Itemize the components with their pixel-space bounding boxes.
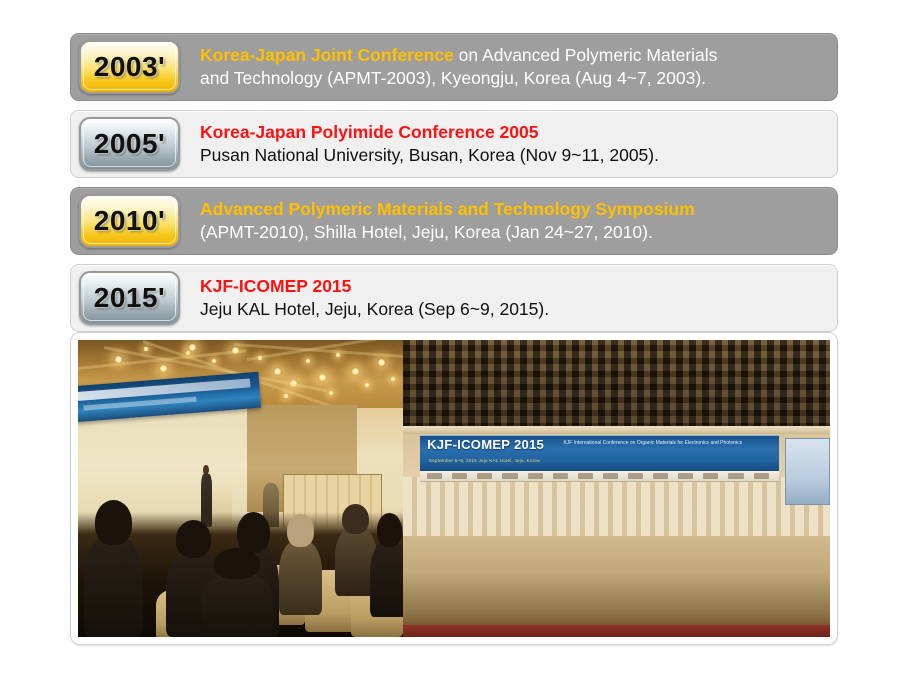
lecture-hall-photo [78, 340, 403, 637]
group-photo-kjf-icomep-2015: KJF-ICOMEP 2015 KJF International Confer… [403, 340, 830, 637]
year-badge-2015[interactable]: 2015' [79, 271, 180, 325]
timeline-row-detail: Pusan National University, Busan, Korea … [200, 144, 825, 167]
timeline-row-detail: (APMT-2010), Shilla Hotel, Jeju, Korea (… [200, 221, 825, 244]
timeline-row-headline: Korea-Japan Joint Conference on Advanced… [200, 44, 825, 67]
timeline-row-2015[interactable]: 2015' KJF-ICOMEP 2015 Jeju KAL Hotel, Je… [70, 264, 838, 332]
year-badge-label: 2005' [94, 130, 165, 158]
stage-curtain [403, 477, 830, 536]
banner-subtitle: KJF International Conference on Organic … [563, 440, 771, 447]
banner-date: September 6~9, 2015 Jeju KAL Hotel, Jeju… [429, 458, 540, 463]
timeline-row-text: Korea-Japan Joint Conference on Advanced… [180, 44, 837, 90]
audience-area [78, 512, 403, 637]
year-badge-label: 2015' [94, 284, 165, 312]
year-badge-label: 2003' [94, 53, 165, 81]
year-badge-2010[interactable]: 2010' [79, 194, 180, 248]
photo-panel: KJF-ICOMEP 2015 KJF International Confer… [70, 332, 838, 645]
projection-screen [785, 438, 830, 505]
hall-scene [78, 340, 403, 637]
seated-crowd [403, 340, 830, 429]
timeline-row-2010[interactable]: 2010' Advanced Polymeric Materials and T… [70, 187, 838, 255]
year-badge-2005[interactable]: 2005' [79, 117, 180, 171]
timeline-row-text: Korea-Japan Polyimide Conference 2005 Pu… [180, 121, 837, 167]
timeline-row-headline: KJF-ICOMEP 2015 [200, 275, 825, 298]
banner-title: KJF-ICOMEP 2015 [427, 438, 544, 451]
headline-highlight: Advanced Polymeric Materials and Technol… [200, 199, 695, 219]
timeline-row-detail: and Technology (APMT-2003), Kyeongju, Ko… [200, 67, 825, 90]
kjf-icomep-banner: KJF-ICOMEP 2015 KJF International Confer… [420, 435, 779, 473]
group-scene: KJF-ICOMEP 2015 KJF International Confer… [403, 340, 830, 637]
year-badge-2003[interactable]: 2003' [79, 40, 180, 94]
headline-highlight: KJF-ICOMEP 2015 [200, 276, 351, 296]
headline-highlight: Korea-Japan Joint Conference [200, 45, 454, 65]
timeline-row-text: Advanced Polymeric Materials and Technol… [180, 198, 837, 244]
headline-highlight: Korea-Japan Polyimide Conference 2005 [200, 122, 538, 142]
timeline-row-detail: Jeju KAL Hotel, Jeju, Korea (Sep 6~9, 20… [200, 298, 825, 321]
timeline-row-headline: Korea-Japan Polyimide Conference 2005 [200, 121, 825, 144]
crowd-divider [403, 426, 830, 433]
slide-canvas: 2003' Korea-Japan Joint Conference on Ad… [0, 0, 900, 675]
headline-rest: on Advanced Polymeric Materials [454, 45, 718, 65]
year-badge-label: 2010' [94, 207, 165, 235]
red-carpet [403, 625, 830, 637]
timeline-row-2005[interactable]: 2005' Korea-Japan Polyimide Conference 2… [70, 110, 838, 178]
conference-timeline-list: 2003' Korea-Japan Joint Conference on Ad… [70, 33, 838, 332]
timeline-row-headline: Advanced Polymeric Materials and Technol… [200, 198, 825, 221]
timeline-row-text: KJF-ICOMEP 2015 Jeju KAL Hotel, Jeju, Ko… [180, 275, 837, 321]
sponsor-logo-strip [420, 471, 779, 482]
timeline-row-2003[interactable]: 2003' Korea-Japan Joint Conference on Ad… [70, 33, 838, 101]
